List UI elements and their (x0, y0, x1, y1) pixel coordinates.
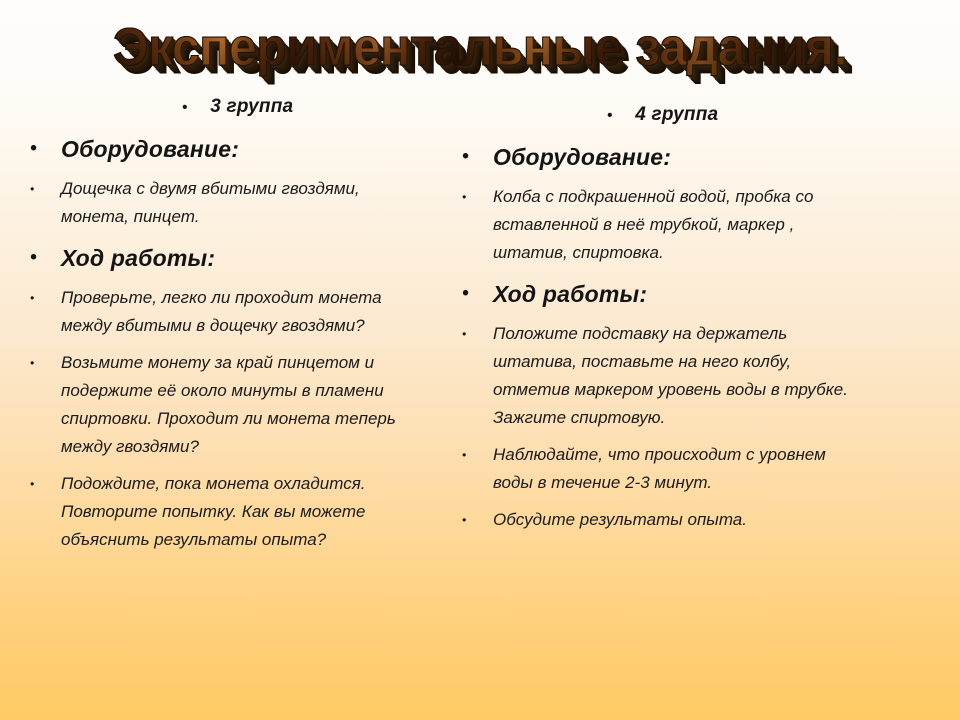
group-label: 3 группа (210, 92, 293, 122)
list-item: • Дощечка с двумя вбитыми гвоздями, моне… (30, 175, 460, 231)
bullet-icon: • (462, 140, 493, 174)
section-heading-label: Ход работы: (493, 277, 647, 311)
list-item-text: Колба с подкрашенной водой, пробка со вс… (493, 183, 865, 267)
section-heading-label: Ход работы: (61, 241, 215, 275)
page-title: Экспериментальные задания. Экспериментал… (113, 14, 847, 80)
list-item: • Наблюдайте, что происходит с уровнем в… (462, 441, 932, 497)
bullet-icon: • (607, 108, 612, 123)
bullet-icon: • (462, 320, 493, 348)
list-item-text: Проверьте, легко ли проходит монета межд… (61, 284, 401, 340)
list-item-text: Подождите, пока монета охладится. Повтор… (61, 470, 401, 554)
list-item-text: Положите подставку на держатель штатива,… (493, 320, 865, 432)
bullet-icon: • (30, 470, 61, 498)
title-face: Экспериментальные задания. (113, 17, 847, 76)
column-group-4: • 4 группа • Оборудование: • Колба с под… (462, 100, 932, 534)
list-item: • Проверьте, легко ли проходит монета ме… (30, 284, 460, 340)
section-heading-equipment: • Оборудование: (30, 132, 460, 166)
bullet-icon: • (30, 284, 61, 312)
bullet-icon: • (462, 506, 493, 534)
column-group-3: • 3 группа • Оборудование: • Дощечка с д… (30, 92, 460, 554)
slide-title-area: Экспериментальные задания. Экспериментал… (0, 16, 960, 88)
bullet-icon: • (462, 277, 493, 311)
list-item-text: Наблюдайте, что происходит с уровнем вод… (493, 441, 865, 497)
slide-canvas: Экспериментальные задания. Экспериментал… (0, 0, 960, 720)
bullet-icon: • (462, 183, 493, 211)
bullet-icon: • (30, 241, 61, 275)
list-item: • Положите подставку на держатель штатив… (462, 320, 932, 432)
list-item-text: Возьмите монету за край пинцетом и подер… (61, 349, 401, 461)
group-label-row-3: • 3 группа (30, 92, 460, 122)
group-label: 4 группа (635, 100, 718, 130)
bullet-icon: • (30, 349, 61, 377)
list-item-text: Дощечка с двумя вбитыми гвоздями, монета… (61, 175, 401, 231)
section-heading-label: Оборудование: (493, 140, 671, 174)
section-heading-label: Оборудование: (61, 132, 239, 166)
list-item: • Подождите, пока монета охладится. Повт… (30, 470, 460, 554)
list-item: • Колба с подкрашенной водой, пробка со … (462, 183, 932, 267)
list-item-text: Обсудите результаты опыта. (493, 506, 865, 534)
list-item: • Обсудите результаты опыта. (462, 506, 932, 534)
bullet-icon: • (30, 175, 61, 203)
bullet-icon: • (462, 441, 493, 469)
section-heading-procedure: • Ход работы: (462, 277, 932, 311)
bullet-icon: • (30, 132, 61, 166)
section-heading-equipment: • Оборудование: (462, 140, 932, 174)
section-heading-procedure: • Ход работы: (30, 241, 460, 275)
bullet-icon: • (182, 100, 187, 115)
list-item: • Возьмите монету за край пинцетом и под… (30, 349, 460, 461)
group-label-row-4: • 4 группа (462, 100, 932, 130)
